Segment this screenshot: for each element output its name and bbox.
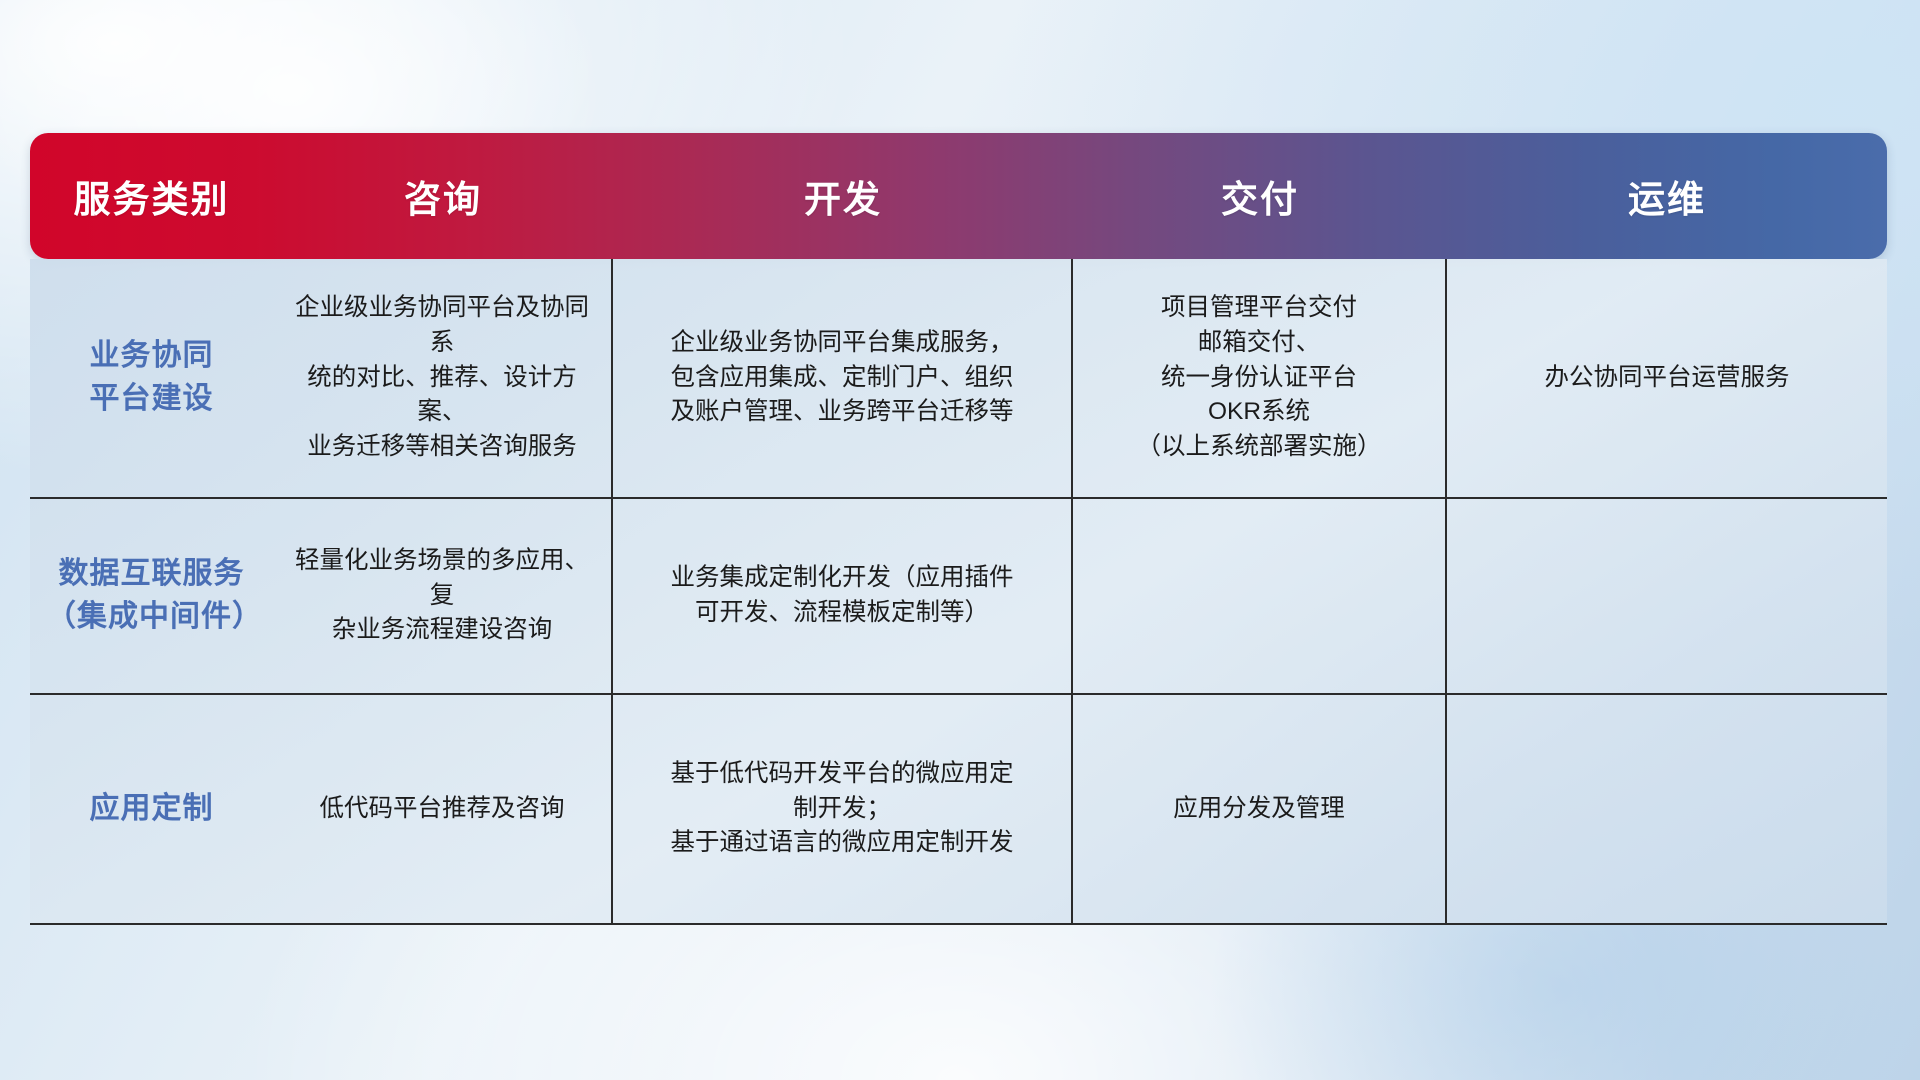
cell-consulting-1: 企业级业务协同平台及协同系 统的对比、推荐、设计方案、 业务迁移等相关咨询服务 (273, 259, 613, 497)
table-row: 应用定制 低代码平台推荐及咨询 基于低代码开发平台的微应用定 制开发； 基于通过… (30, 695, 1887, 925)
cell-development-2: 业务集成定制化开发（应用插件 可开发、流程模板定制等） (613, 499, 1073, 693)
cell-category-1: 业务协同 平台建设 (30, 259, 273, 497)
cell-consulting-3: 低代码平台推荐及咨询 (273, 695, 613, 923)
table-body: 业务协同 平台建设 企业级业务协同平台及协同系 统的对比、推荐、设计方案、 业务… (30, 259, 1887, 925)
cell-category-2: 数据互联服务 （集成中间件） (30, 499, 273, 693)
cell-operations-3 (1447, 695, 1887, 923)
cell-delivery-3: 应用分发及管理 (1073, 695, 1447, 923)
cell-development-3: 基于低代码开发平台的微应用定 制开发； 基于通过语言的微应用定制开发 (613, 695, 1073, 923)
cell-delivery-1: 项目管理平台交付 邮箱交付、 统一身份认证平台 OKR系统 （以上系统部署实施） (1073, 259, 1447, 497)
column-header-development: 开发 (613, 133, 1073, 259)
cell-consulting-2: 轻量化业务场景的多应用、复 杂业务流程建设咨询 (273, 499, 613, 693)
service-matrix-table: 服务类别 咨询 开发 交付 运维 业务协同 平台建设 企业级业务协同平台及协同系… (30, 133, 1887, 925)
cell-category-3: 应用定制 (30, 695, 273, 923)
slide-canvas: 服务类别 咨询 开发 交付 运维 业务协同 平台建设 企业级业务协同平台及协同系… (0, 0, 1920, 1080)
column-header-category: 服务类别 (30, 133, 273, 259)
cell-operations-2 (1447, 499, 1887, 693)
table-header-row: 服务类别 咨询 开发 交付 运维 (30, 133, 1887, 259)
cell-delivery-2 (1073, 499, 1447, 693)
table-row: 业务协同 平台建设 企业级业务协同平台及协同系 统的对比、推荐、设计方案、 业务… (30, 259, 1887, 499)
table-row: 数据互联服务 （集成中间件） 轻量化业务场景的多应用、复 杂业务流程建设咨询 业… (30, 499, 1887, 695)
column-header-consulting: 咨询 (273, 133, 613, 259)
column-header-operations: 运维 (1447, 133, 1887, 259)
column-header-delivery: 交付 (1073, 133, 1447, 259)
cell-operations-1: 办公协同平台运营服务 (1447, 259, 1887, 497)
cell-development-1: 企业级业务协同平台集成服务， 包含应用集成、定制门户、组织 及账户管理、业务跨平… (613, 259, 1073, 497)
